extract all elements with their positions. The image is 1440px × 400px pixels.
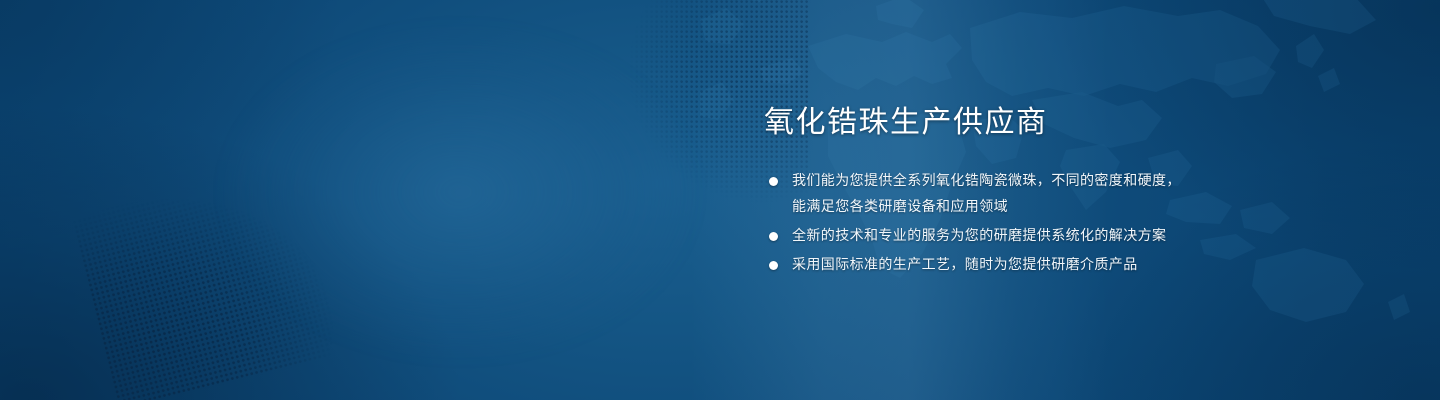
- bead-cluster-illustration: [120, 0, 760, 400]
- product-photo-zirconia-beads: [120, 0, 760, 400]
- bullet-dot-icon: [769, 177, 778, 186]
- page-title: 氧化锆珠生产供应商: [764, 104, 1234, 142]
- bullet-text-line: 采用国际标准的生产工艺，随时为您提供研磨介质产品: [792, 252, 1234, 278]
- banner-text-block: 氧化锆珠生产供应商 我们能为您提供全系列氧化锆陶瓷微珠，不同的密度和硬度， 能满…: [764, 104, 1234, 281]
- list-item: 全新的技术和专业的服务为您的研磨提供系统化的解决方案: [764, 223, 1234, 249]
- bullet-dot-icon: [769, 232, 778, 241]
- bullet-text-line: 能满足您各类研磨设备和应用领域: [792, 194, 1234, 220]
- list-item: 我们能为您提供全系列氧化锆陶瓷微珠，不同的密度和硬度， 能满足您各类研磨设备和应…: [764, 168, 1234, 220]
- bullet-text-line: 我们能为您提供全系列氧化锆陶瓷微珠，不同的密度和硬度，: [792, 168, 1234, 194]
- list-item: 采用国际标准的生产工艺，随时为您提供研磨介质产品: [764, 252, 1234, 278]
- bullet-text-line: 全新的技术和专业的服务为您的研磨提供系统化的解决方案: [792, 223, 1234, 249]
- bullet-dot-icon: [769, 261, 778, 270]
- feature-list: 我们能为您提供全系列氧化锆陶瓷微珠，不同的密度和硬度， 能满足您各类研磨设备和应…: [764, 168, 1234, 278]
- hero-banner: 氧化锆珠生产供应商 我们能为您提供全系列氧化锆陶瓷微珠，不同的密度和硬度， 能满…: [0, 0, 1440, 400]
